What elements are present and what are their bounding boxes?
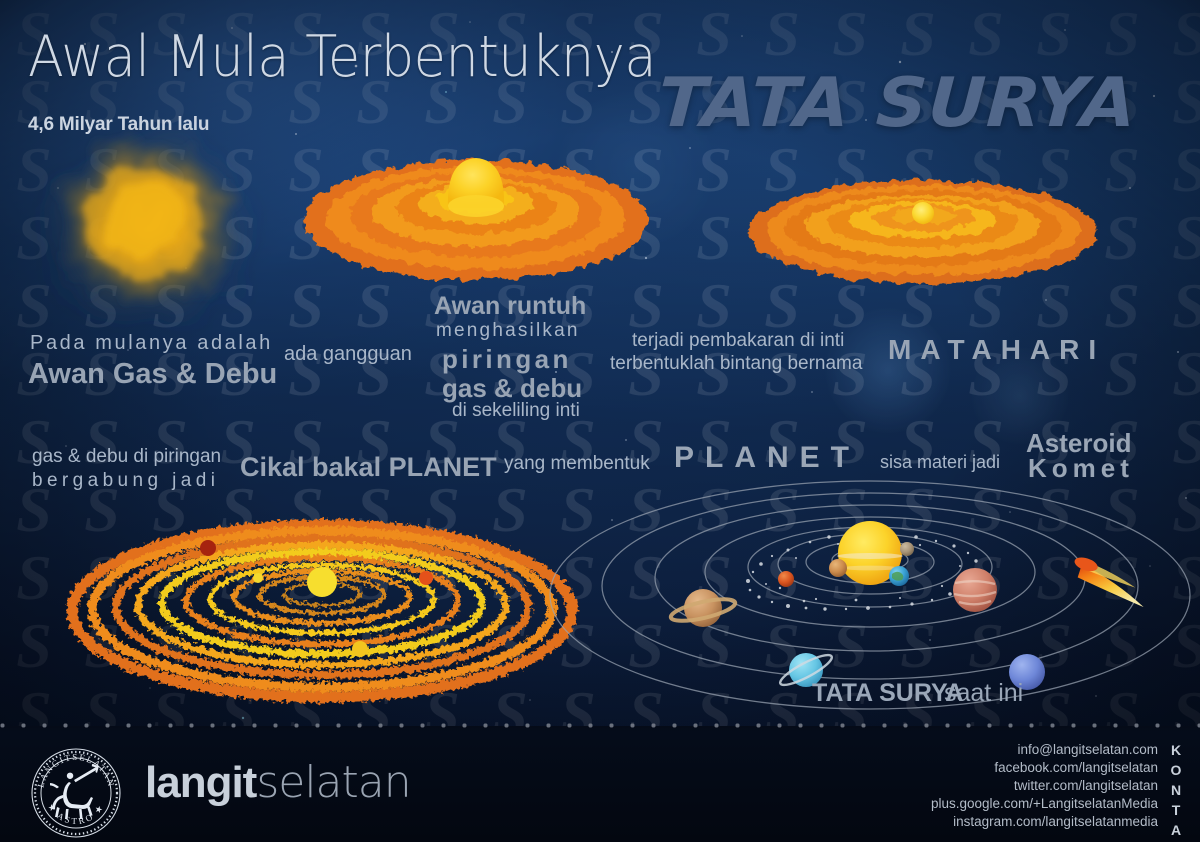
komet-label: Komet [1028,453,1134,484]
stage3-caption-line1: Awan runtuh [434,292,586,321]
stage5-caption-line2: bergabung jadi [32,470,219,492]
contact-instagram[interactable]: instagram.com/langitselatanmedia [953,814,1158,829]
planet-label: PLANET [674,441,860,475]
stage1-caption-line2: Awan Gas & Debu [28,358,277,391]
langitselatan-wordmark: langitselatan [145,761,411,805]
protoplanet-2 [200,540,216,556]
mars [778,571,794,587]
page-title: Awal Mula Terbentuknya [28,27,656,87]
contact-twitter[interactable]: twitter.com/langitselatan [1014,778,1158,793]
protoplanet-3 [419,571,433,585]
infographic-poster: Awal Mula Terbentuknya 4,6 Milyar Tahun … [0,0,1200,842]
venus [829,559,847,577]
contact-email[interactable]: info@langitselatan.com [1017,742,1158,757]
svg-text:LANGITSELATAN: LANGITSELATAN [35,752,116,789]
contact-googleplus[interactable]: plus.google.com/+LangitselatanMedia [931,796,1158,811]
saturn [669,589,737,627]
langitselatan-seal-logo: LANGITSELATAN ★ ASTRO ★ [30,747,122,839]
contact-facebook[interactable]: facebook.com/langitselatan [994,760,1158,775]
matahari-label: MATAHARI [888,334,1105,366]
stage1-caption-line1: Pada mulanya adalah [30,332,273,355]
stage7-caption-line1: sisa materi jadi [880,452,1000,473]
stage3-caption-line3: piringan [442,344,572,375]
comet [1068,555,1153,607]
protostar-core [307,567,337,597]
solar-system-caption-bold: TATA SURYA [812,679,963,708]
orbit-lines [550,481,1190,709]
stage3-caption-line5: di sekeliling inti [452,400,580,422]
wordmark-bold: langit [145,758,256,807]
footer-divider [0,723,1200,728]
big-title: TATA SURYA [656,70,1138,138]
solar-system-caption-light: saat ini [944,679,1023,708]
wordmark-light: selatan [256,757,410,808]
protostar-disk-art [742,168,1104,298]
protoplanet-1 [253,573,263,583]
stage3-caption-line2: menghasilkan [436,320,580,342]
stage5-caption-line1: gas & debu di piringan [32,446,221,468]
protoplanetary-disk-art [60,506,580,706]
protoplanet-4 [352,641,368,657]
stage4-caption-line2: terbentuklah bintang bernama [610,353,862,375]
stage4-caption-line1: terjadi pembakaran di inti [632,330,844,352]
kontak-label: KONTAK [1168,742,1184,842]
stage5-caption-line3: Cikal bakal PLANET [240,452,497,483]
collapsing-cloud-disk-art [296,138,656,288]
mercury [900,542,914,556]
stage2-caption: ada gangguan [284,343,412,366]
gas-dust-cloud-art [8,116,288,346]
stage6-caption-line1: yang membentuk [504,453,650,475]
